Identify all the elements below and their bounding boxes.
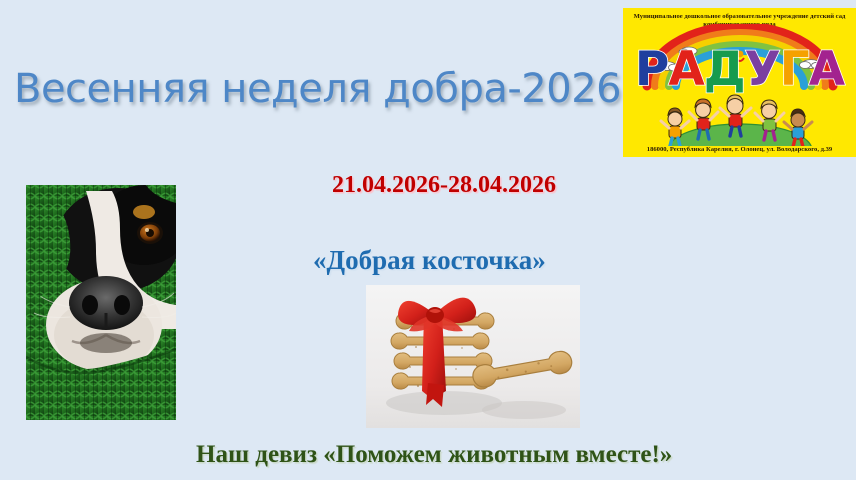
dog-treats-photo — [366, 285, 580, 428]
dog-photo-image — [26, 185, 176, 420]
presentation-slide: Весенняя неделя добра-2026 Муниципальное… — [0, 0, 856, 480]
logo-letter-5: А — [809, 42, 844, 97]
logo-letter-0: Р — [635, 42, 668, 97]
logo-letter-2: Д — [704, 42, 745, 97]
logo-name-raduga: РАДУГА — [623, 46, 856, 93]
page-title: Весенняя неделя добра-2026 — [14, 66, 621, 112]
event-action-name: «Добрая косточка» — [313, 245, 546, 276]
dog-treats-photo-image — [366, 285, 580, 428]
kindergarten-logo: Муниципальное дошкольное образовательное… — [623, 8, 856, 157]
logo-letter-1: А — [668, 42, 703, 97]
logo-letter-4: Г — [780, 42, 809, 97]
event-motto: Наш девиз «Поможем животным вместе!» — [196, 441, 672, 469]
logo-address-text: 186000, Республика Карелия, г. Олонец, у… — [623, 146, 856, 153]
event-date-range: 21.04.2026-28.04.2026 — [332, 172, 556, 199]
dog-photo — [26, 185, 176, 420]
logo-letter-3: У — [745, 42, 780, 97]
